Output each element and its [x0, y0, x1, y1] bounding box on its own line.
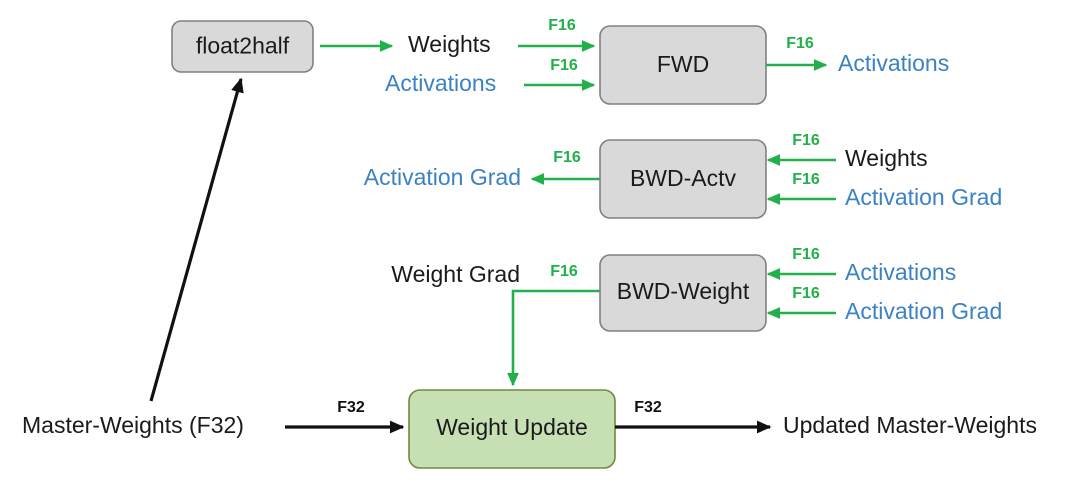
- tensor-label-activations-fwd-in: Activations: [385, 70, 496, 96]
- edge-label-f16-bwd-actv-to-activation-grad: F16: [553, 149, 581, 166]
- process-box-bwd-weight[interactable]: BWD-Weight: [600, 255, 766, 331]
- weight-update-box-label: Weight Update: [436, 414, 588, 440]
- edge-label-f16-activation-grad-to-bwd-weight: F16: [792, 285, 820, 302]
- process-box-weight-update[interactable]: Weight Update: [409, 390, 615, 468]
- tensor-label-master-weights: Master-Weights (F32): [22, 412, 244, 438]
- edge-label-f32-master-weights-to-update: F32: [337, 399, 365, 416]
- edge-label-f16-weights-to-bwd-actv: F16: [792, 132, 820, 149]
- edge-master-weights-to-float2half: [151, 79, 241, 401]
- tensor-label-activations-fwd-out: Activations: [838, 50, 949, 76]
- tensor-label-activation-grad-out: Activation Grad: [364, 164, 521, 190]
- process-box-bwd-actv[interactable]: BWD-Actv: [600, 140, 766, 218]
- tensor-label-weights-fwd: Weights: [408, 31, 491, 57]
- tensor-label-activation-grad-bwd-weight-in: Activation Grad: [845, 298, 1002, 324]
- bwd-weight-box-label: BWD-Weight: [617, 278, 750, 304]
- edge-label-f16-weights-to-fwd: F16: [548, 17, 576, 34]
- tensor-label-activation-grad-bwd-actv-in: Activation Grad: [845, 184, 1002, 210]
- float2half-box-label: float2half: [196, 33, 290, 59]
- bwd-actv-box-label: BWD-Actv: [630, 165, 737, 191]
- tensor-label-activations-bwd-weight-in: Activations: [845, 259, 956, 285]
- edge-label-f16-activation-grad-to-bwd-actv: F16: [792, 171, 820, 188]
- edge-label-f16-fwd-to-activations: F16: [786, 35, 814, 52]
- tensor-label-updated-master-weights: Updated Master-Weights: [783, 412, 1037, 438]
- process-box-fwd[interactable]: FWD: [600, 26, 766, 104]
- edge-label-f32-update-to-updated: F32: [634, 399, 662, 416]
- mixed-precision-training-diagram: float2half Weights F16 Activations F16 F…: [0, 0, 1080, 483]
- fwd-box-label: FWD: [657, 51, 709, 77]
- tensor-label-weight-grad: Weight Grad: [391, 261, 520, 287]
- edge-label-f16-activations-to-bwd-weight: F16: [792, 246, 820, 263]
- edge-label-f16-activations-to-fwd: F16: [550, 57, 578, 74]
- edge-bwd-weight-to-weight-update: [513, 291, 600, 385]
- edge-label-f16-bwd-weight-to-weight-grad: F16: [550, 263, 578, 280]
- process-box-float2half[interactable]: float2half: [172, 21, 313, 72]
- diagram-canvas: float2half Weights F16 Activations F16 F…: [0, 0, 1080, 483]
- tensor-label-weights-bwd-actv-in: Weights: [845, 145, 928, 171]
